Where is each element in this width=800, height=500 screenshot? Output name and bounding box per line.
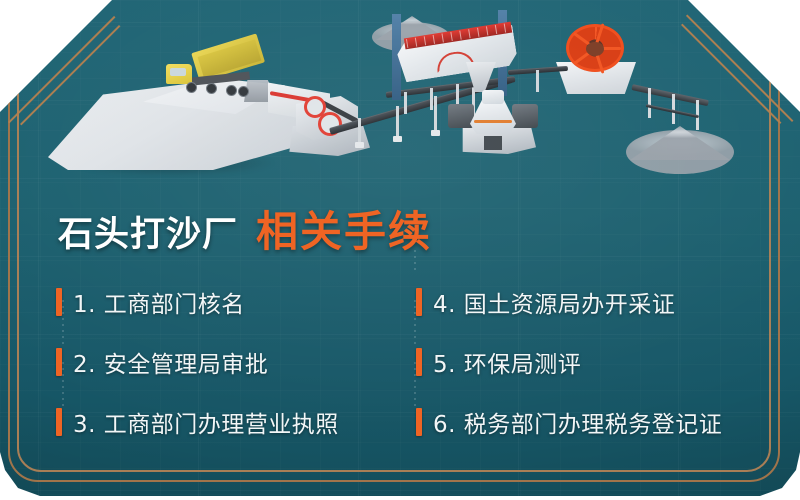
conveyor-foot: [393, 136, 402, 142]
conveyor-foot: [355, 142, 364, 148]
bullet-bar-icon: [416, 348, 422, 376]
truck-wheel: [238, 86, 249, 97]
conveyor-leg: [536, 70, 539, 92]
conveyor-leg: [430, 88, 433, 110]
conveyor-leg: [404, 92, 407, 114]
list-item[interactable]: 5. 环保局测评: [416, 345, 756, 379]
cone-crusher-motor: [448, 104, 474, 128]
cone-crusher-discharge: [484, 136, 502, 150]
list-item-label: 2. 安全管理局审批: [73, 345, 268, 379]
page-title: 石头打沙厂 相关手续: [58, 198, 432, 259]
truck-wheel: [186, 82, 197, 93]
list-item-label: 1. 工商部门核名: [73, 285, 245, 319]
truck-wheel: [206, 83, 217, 94]
title-highlight: 相关手续: [256, 198, 432, 259]
conveyor-leg: [648, 88, 651, 118]
procedure-list: 1. 工商部门核名 4. 国土资源局办开采证 2. 安全管理局审批 5. 环保局…: [56, 272, 756, 452]
conveyor-leg: [358, 118, 361, 144]
bullet-bar-icon: [56, 348, 62, 376]
list-item-label: 6. 税务部门办理税务登记证: [433, 405, 722, 439]
truck-wheel: [226, 85, 237, 96]
bullet-bar-icon: [56, 408, 62, 436]
cone-crusher-icon: [470, 100, 516, 134]
conveyor-leg: [396, 106, 399, 138]
conveyor-leg: [434, 96, 437, 132]
production-line-illustration: [0, 0, 800, 196]
cone-crusher-band: [474, 120, 512, 123]
conveyor-foot: [431, 130, 440, 136]
list-item[interactable]: 1. 工商部门核名: [56, 285, 416, 319]
conveyor-leg: [456, 84, 459, 106]
list-item[interactable]: 3. 工商部门办理营业执照: [56, 405, 416, 439]
bullet-bar-icon: [56, 288, 62, 316]
list-item[interactable]: 6. 税务部门办理税务登记证: [416, 405, 756, 439]
bullet-bar-icon: [416, 288, 422, 316]
poster-canvas: 石头打沙厂 相关手续 1. 工商部门核名 4. 国土资源局办开采证 2. 安全管…: [0, 0, 800, 500]
cone-crusher-hopper: [482, 90, 504, 104]
title-primary: 石头打沙厂: [58, 206, 238, 257]
list-item[interactable]: 4. 国土资源局办开采证: [416, 285, 756, 319]
cone-crusher-motor: [512, 104, 538, 128]
list-item-label: 4. 国土资源局办开采证: [433, 285, 675, 319]
list-item[interactable]: 2. 安全管理局审批: [56, 345, 416, 379]
list-item-label: 3. 工商部门办理营业执照: [73, 405, 339, 439]
dump-truck-window: [170, 68, 186, 76]
bullet-bar-icon: [416, 408, 422, 436]
sand-washer-hub: [586, 42, 604, 56]
list-item-label: 5. 环保局测评: [433, 345, 581, 379]
